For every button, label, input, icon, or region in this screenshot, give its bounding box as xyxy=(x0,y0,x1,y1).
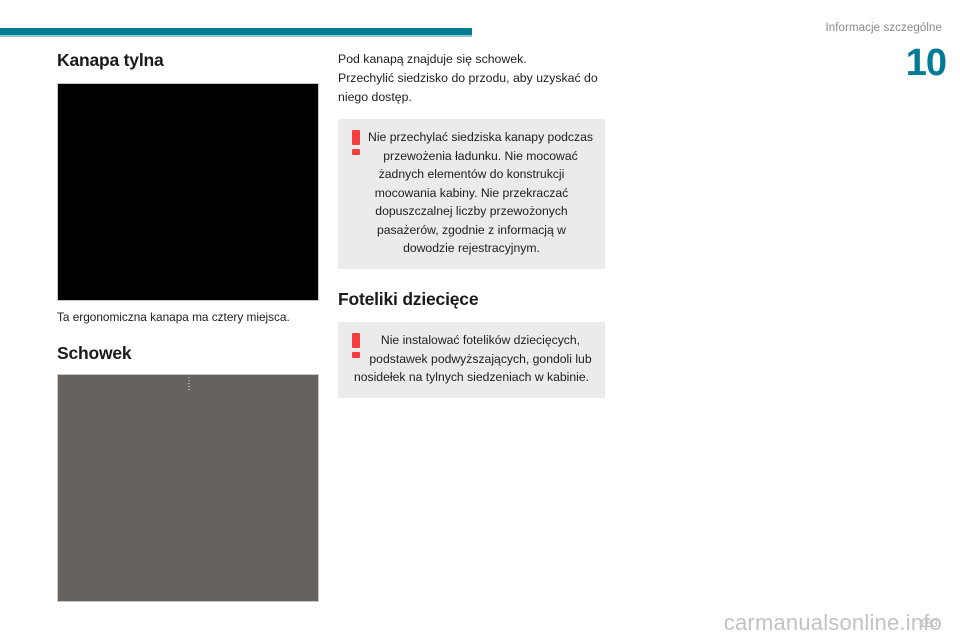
intro-line-1: Pod kanapą znajduje się schowek. xyxy=(338,50,605,69)
header-section-title: Informacje szczególne xyxy=(825,22,942,34)
intro-paragraph: Pod kanapą znajduje się schowek. Przechy… xyxy=(338,50,605,107)
intro-line-2: Przechylić siedzisko do przodu, aby uzys… xyxy=(338,69,605,107)
header-accent-bar xyxy=(0,28,472,35)
warning-callout-child-seat: Nie instalować fotelików dziecięcych, po… xyxy=(338,322,605,398)
rear-bench-seat-photo xyxy=(57,83,319,301)
heading-schowek: Schowek xyxy=(57,343,319,364)
chapter-number: 10 xyxy=(906,44,946,82)
warning-exclamation-icon xyxy=(352,130,361,156)
warning-exclamation-icon xyxy=(352,333,361,359)
left-column: Kanapa tylna Ta ergonomiczna kanapa ma c… xyxy=(57,50,319,602)
header-accent-hairline xyxy=(0,35,472,37)
warning-callout-seat: Nie przechylać siedziska kanapy podczas … xyxy=(338,119,605,269)
site-watermark: carmanualsonline.info xyxy=(724,610,942,636)
heading-kanapa-tylna: Kanapa tylna xyxy=(57,50,319,71)
under-seat-storage-photo xyxy=(57,374,319,602)
manual-page: Informacje szczególne 10 Kanapa tylna Ta… xyxy=(0,0,960,640)
warning-text-seat: Nie przechylać siedziska kanapy podczas … xyxy=(368,130,593,255)
right-column: Pod kanapą znajduje się schowek. Przechy… xyxy=(338,50,605,418)
heading-foteliki-dzieciece: Foteliki dziecięce xyxy=(338,289,605,310)
image-artifact xyxy=(188,377,190,392)
figure-caption-rear-bench: Ta ergonomiczna kanapa ma cztery miejsca… xyxy=(57,310,319,326)
warning-text-child-seat: Nie instalować fotelików dziecięcych, po… xyxy=(354,333,592,384)
